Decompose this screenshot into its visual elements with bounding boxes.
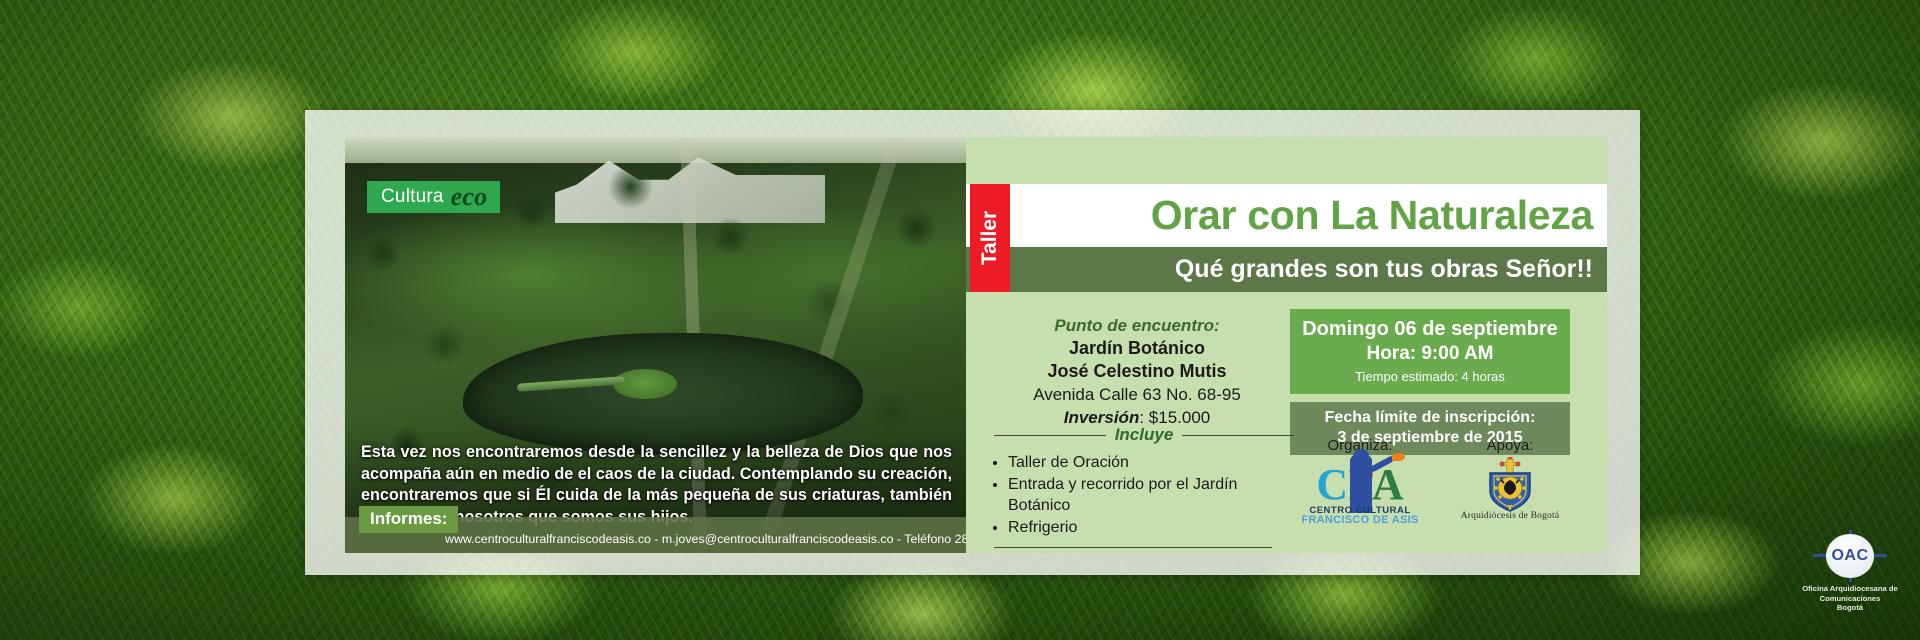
saint-francis-head-icon xyxy=(1353,449,1369,463)
informes-contact-text: www.centroculturalfranciscodeasis.co - m… xyxy=(445,532,960,546)
list-item: Taller de Oración xyxy=(1008,453,1294,473)
includes-rule-right xyxy=(1182,435,1294,436)
oac-caption-line3: Bogotá xyxy=(1798,603,1902,613)
logos-row: Organiza: CFA CENTRO CULTURAL FRANCISCO … xyxy=(1296,437,1586,523)
cfa-tagline-line2: FRANCISCO DE ASIS xyxy=(1296,514,1424,526)
includes-heading: Incluye xyxy=(1115,425,1174,445)
apoya-column: Apoya: xyxy=(1446,437,1574,523)
deadline-label: Fecha límite de inscripción: xyxy=(1298,409,1562,427)
list-item: Entrada y recorrido por el Jardín Botáni… xyxy=(1008,475,1294,516)
informes-label: Informes: xyxy=(359,506,458,533)
bird-icon xyxy=(1392,453,1405,461)
info-panel: Orar con La Naturaleza Qué grandes son t… xyxy=(966,137,1607,553)
includes-bottom-rule xyxy=(994,547,1272,548)
oac-caption: Oficina Arquidiocesana de Comunicaciones… xyxy=(1798,584,1902,613)
includes-heading-row: Incluye xyxy=(994,425,1294,445)
poster-card-inner: Cultura eco Esta vez nos encontraremos d… xyxy=(345,137,1607,553)
oac-logo: OAC Oficina Arquidiocesana de Comunicaci… xyxy=(1798,530,1902,613)
arquidiocesis-caption: Arquidiócesis de Bogotá xyxy=(1446,511,1574,521)
cultura-eco-word1: Cultura xyxy=(381,186,444,208)
arquidiocesis-shield-icon xyxy=(1446,457,1574,513)
list-item: Refrigerio xyxy=(1008,518,1294,538)
arquidiocesis-logo: Arquidiócesis de Bogotá xyxy=(1446,457,1574,523)
oac-mark: OAC xyxy=(1813,530,1887,582)
oac-caption-line1: Oficina Arquidiocesana de xyxy=(1798,584,1902,594)
meeting-point-label: Punto de encuentro: xyxy=(1002,315,1272,337)
event-duration: Tiempo estimado: 4 horas xyxy=(1298,369,1562,384)
includes-block: Incluye Taller de Oración Entrada y reco… xyxy=(994,425,1294,548)
taller-tab-label: Taller xyxy=(978,211,1002,265)
meeting-place-line1: Jardín Botánico xyxy=(1002,337,1272,360)
event-date: Domingo 06 de septiembre xyxy=(1298,318,1562,341)
meeting-place-line2: José Celestino Mutis xyxy=(1002,360,1272,383)
date-box-primary: Domingo 06 de septiembre Hora: 9:00 AM T… xyxy=(1290,309,1570,394)
includes-rule-left xyxy=(994,435,1106,436)
page-subtitle: Qué grandes son tus obras Señor!! xyxy=(1175,255,1607,284)
title-bar: Orar con La Naturaleza xyxy=(966,184,1607,247)
organiza-column: Organiza: CFA CENTRO CULTURAL FRANCISCO … xyxy=(1296,437,1424,523)
includes-list: Taller de Oración Entrada y recorrido po… xyxy=(1008,453,1294,539)
cfa-logo: CFA CENTRO CULTURAL FRANCISCO DE ASIS xyxy=(1296,457,1424,523)
date-box: Domingo 06 de septiembre Hora: 9:00 AM T… xyxy=(1290,309,1570,455)
cultura-eco-word2: eco xyxy=(451,184,488,210)
event-time: Hora: 9:00 AM xyxy=(1298,343,1562,365)
garden-photo: Cultura eco Esta vez nos encontraremos d… xyxy=(345,137,966,553)
poster-card: Cultura eco Esta vez nos encontraremos d… xyxy=(305,110,1640,575)
oac-acronym: OAC xyxy=(1826,534,1874,578)
meeting-point-block: Punto de encuentro: Jardín Botánico José… xyxy=(1002,315,1272,429)
taller-tab: Taller xyxy=(970,184,1010,292)
apoya-label: Apoya: xyxy=(1446,437,1574,454)
oac-caption-line2: Comunicaciones xyxy=(1798,594,1902,604)
subtitle-bar: Qué grandes son tus obras Señor!! xyxy=(966,247,1607,292)
cultura-eco-badge: Cultura eco xyxy=(367,181,500,213)
page-title: Orar con La Naturaleza xyxy=(1151,192,1607,239)
cfa-letter-c: C xyxy=(1316,460,1348,509)
meeting-address: Avenida Calle 63 No. 68-95 xyxy=(1002,384,1272,406)
